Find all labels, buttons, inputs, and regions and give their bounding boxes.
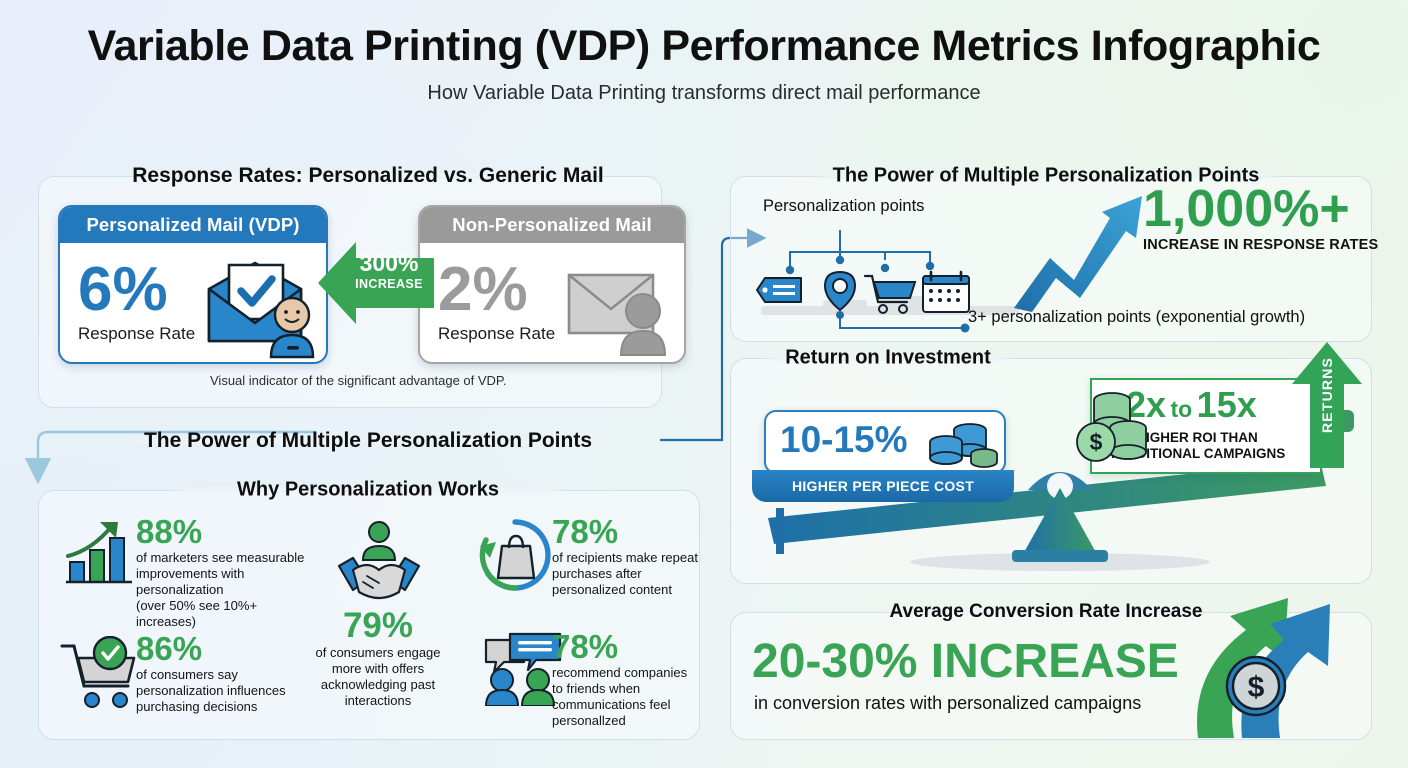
stat-78-repeat-desc: of recipients make repeat purchases afte… bbox=[552, 550, 698, 598]
panel-why-title: Why Personalization Works bbox=[223, 479, 513, 502]
panel-conversion-title: Average Conversion Rate Increase bbox=[876, 601, 1217, 623]
personalized-response-value: 6% bbox=[78, 261, 195, 318]
returns-arrow-label: RETURNS bbox=[1319, 363, 1335, 433]
panel-response-rates-title: Response Rates: Personalized vs. Generic… bbox=[118, 164, 618, 188]
conversion-headline: 20-30% INCREASE bbox=[752, 638, 1179, 686]
card-personalized-caption: Personalized Mail (VDP) bbox=[60, 207, 326, 243]
card-nonpersonalized-caption: Non-Personalized Mail bbox=[420, 207, 684, 243]
stat-78-recommend-desc: recommend companies to friends when comm… bbox=[552, 665, 700, 729]
response-panel-footnote: Visual indicator of the significant adva… bbox=[210, 373, 507, 388]
stat-88-pct: 88% bbox=[136, 515, 311, 548]
calendar-icon bbox=[923, 272, 969, 312]
stat-86-pct: 86% bbox=[136, 632, 306, 665]
svg-text:$: $ bbox=[1248, 671, 1265, 704]
card-personalized-mail: Personalized Mail (VDP) 6% Response Rate bbox=[58, 205, 328, 364]
stat-79: 79% of consumers engage more with offers… bbox=[300, 608, 456, 709]
increase-arrow-badge: 300% INCREASE bbox=[316, 240, 436, 326]
page-subtitle: How Variable Data Printing transforms di… bbox=[0, 82, 1408, 105]
increase-word: INCREASE bbox=[350, 277, 428, 291]
handshake-icon bbox=[333, 520, 425, 610]
envelope-person-grey-icon bbox=[555, 249, 680, 359]
panel-roi-title: Return on Investment bbox=[771, 347, 1005, 370]
generic-response-label: Response Rate bbox=[438, 324, 555, 344]
returns-value-join: to bbox=[1171, 396, 1193, 422]
stat-86: 86% of consumers say personalization inf… bbox=[136, 632, 306, 715]
card-nonpersonalized-mail: Non-Personalized Mail 2% Response Rate bbox=[418, 205, 686, 364]
cost-value: 10-15% bbox=[780, 416, 908, 464]
stat-79-desc: of consumers engage more with offers ack… bbox=[300, 645, 456, 709]
returns-value-b: 15x bbox=[1197, 384, 1257, 425]
cost-pill: 10-15% bbox=[764, 410, 1006, 474]
power-stat-caption: INCREASE IN RESPONSE RATES bbox=[1143, 237, 1378, 253]
increase-value: 300% bbox=[350, 252, 428, 275]
personalization-points-label: Personalization points bbox=[763, 197, 924, 216]
growth-arrow-icon bbox=[1010, 186, 1150, 316]
stat-78-recommend-pct: 78% bbox=[552, 630, 700, 663]
stat-86-desc: of consumers say personalization influen… bbox=[136, 667, 306, 715]
generic-response-value: 2% bbox=[438, 261, 555, 318]
power-stat-value: 1,000%+ bbox=[1143, 183, 1350, 235]
stat-78-repeat-pct: 78% bbox=[552, 515, 698, 548]
cost-caption-band: HIGHER PER PIECE COST bbox=[752, 470, 1014, 502]
page-title: Variable Data Printing (VDP) Performance… bbox=[0, 24, 1408, 70]
dollar-coin-icon: $ bbox=[1224, 654, 1288, 718]
stat-79-pct: 79% bbox=[300, 608, 456, 643]
conversion-subtext: in conversion rates with personalized ca… bbox=[754, 693, 1141, 714]
bar-chart-growth-icon bbox=[62, 518, 138, 590]
header: Variable Data Printing (VDP) Performance… bbox=[0, 24, 1408, 105]
stat-88-desc: of marketers see measurable improvements… bbox=[136, 550, 311, 630]
svg-text:$: $ bbox=[1090, 429, 1103, 455]
stat-88: 88% of marketers see measurable improvem… bbox=[136, 515, 311, 630]
coin-stack-green-icon: $ bbox=[1076, 390, 1166, 472]
bridge-title: The Power of Multiple Personalization Po… bbox=[130, 429, 606, 453]
stat-78-recommend: 78% recommend companies to friends when … bbox=[552, 630, 700, 729]
stat-78-repeat: 78% of recipients make repeat purchases … bbox=[552, 515, 698, 598]
tag-icon bbox=[757, 278, 801, 302]
infographic-canvas: Variable Data Printing (VDP) Performance… bbox=[0, 0, 1408, 768]
coin-stack-blue-icon bbox=[926, 420, 998, 468]
shopping-cart-check-icon bbox=[58, 636, 144, 710]
shopping-bag-repeat-icon bbox=[476, 516, 554, 594]
personalized-response-label: Response Rate bbox=[78, 324, 195, 344]
envelope-check-person-icon bbox=[191, 245, 326, 360]
